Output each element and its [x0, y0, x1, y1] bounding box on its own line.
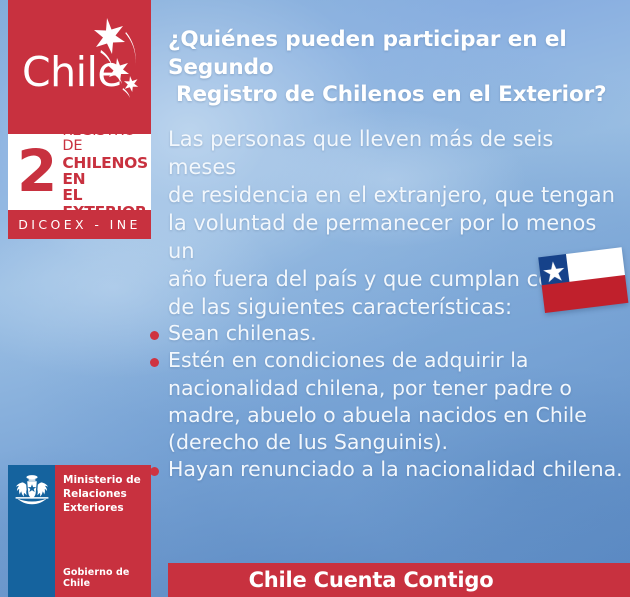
dicoex-ine-label: DICOEX - INE [8, 210, 151, 239]
list-item-text: Sean chilenas. [168, 320, 317, 347]
ministry-title-line-2: Relaciones [63, 488, 141, 502]
ministry-logo: Ministerio de Relaciones Exteriores Gobi… [8, 465, 151, 597]
list-item-line: Estén en condiciones de adquirir la [168, 347, 587, 374]
list-item-line: nacionalidad chilena, por tener padre o [168, 375, 587, 402]
criteria-list: Sean chilenas. Estén en condiciones de a… [150, 320, 628, 484]
poster-canvas: Chile 2 REGISTRO DE CHILENOS EN EL EXTER… [0, 0, 630, 597]
registry-line-2: CHILENOS EN [62, 155, 151, 188]
list-item-text: Estén en condiciones de adquirir la naci… [168, 347, 587, 456]
bullet-dot-icon [150, 467, 159, 476]
bullet-dot-icon [150, 358, 159, 367]
ministry-title: Ministerio de Relaciones Exteriores [63, 474, 141, 516]
ministry-name-panel: Ministerio de Relaciones Exteriores Gobi… [55, 465, 151, 597]
intro-line-1: Las personas que lleven más de seis mese… [168, 126, 618, 182]
ministry-crest-panel [8, 465, 55, 597]
dicoex-registry-logo: Chile 2 REGISTRO DE CHILENOS EN EL EXTER… [8, 0, 151, 239]
ministry-title-line-3: Exteriores [63, 502, 141, 516]
list-item-line: (derecho de Ius Sanguinis). [168, 429, 587, 456]
government-label: Gobierno de Chile [63, 567, 151, 589]
list-item: Estén en condiciones de adquirir la naci… [150, 347, 628, 456]
list-item-line: madre, abuelo o abuela nacidos en Chile [168, 402, 587, 429]
chile-coat-of-arms-icon [13, 472, 51, 508]
ministry-title-line-1: Ministerio de [63, 474, 141, 488]
registry-number: 2 [17, 147, 57, 196]
registry-badge: 2 REGISTRO DE CHILENOS EN EL EXTERIOR [8, 134, 151, 210]
chile-flag-icon [538, 247, 630, 341]
bullet-dot-icon [150, 331, 159, 340]
chile-brand-logo: Chile [8, 0, 151, 134]
headline-line-2: Registro de Chilenos en el Exterior? [168, 81, 620, 109]
intro-line-2: de residencia en el extranjero, que teng… [168, 182, 618, 210]
list-item-text: Hayan renunciado a la nacionalidad chile… [168, 456, 623, 483]
stars-swirl-icon [77, 14, 145, 110]
registry-label: REGISTRO DE CHILENOS EN EL EXTERIOR [62, 124, 151, 220]
chile-flag-svg [538, 247, 628, 313]
bottom-banner: Chile Cuenta Contigo [168, 563, 630, 597]
list-item-line: Sean chilenas. [168, 320, 317, 347]
banner-slogan: Chile Cuenta Contigo [249, 568, 494, 592]
list-item: Hayan renunciado a la nacionalidad chile… [150, 456, 628, 483]
poster-headline: ¿Quiénes pueden participar en el Segundo… [168, 26, 620, 109]
headline-line-1: ¿Quiénes pueden participar en el Segundo [168, 27, 567, 80]
list-item-line: Hayan renunciado a la nacionalidad chile… [168, 456, 623, 483]
